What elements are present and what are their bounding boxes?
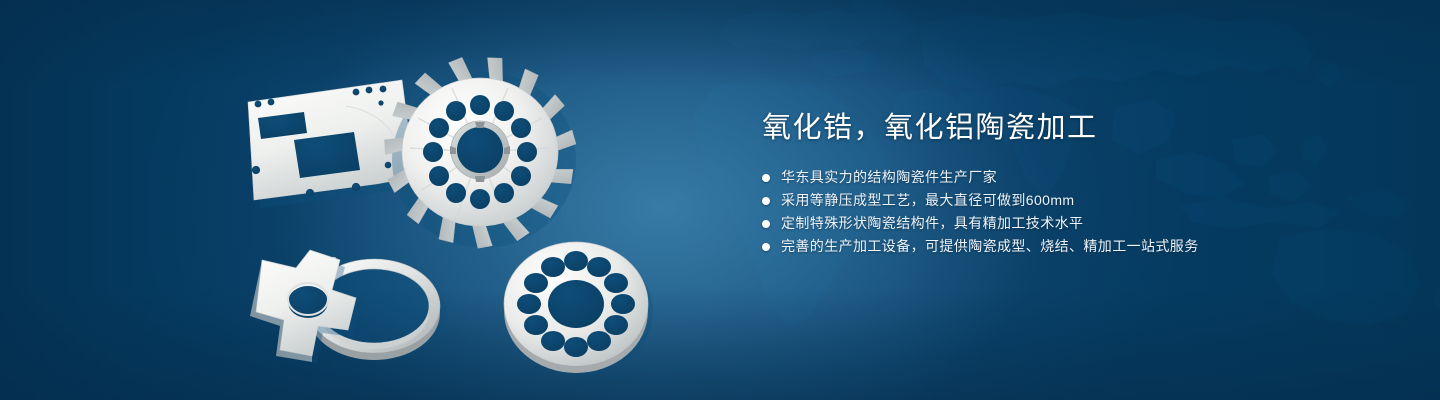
bullet-dot-icon — [762, 197, 770, 205]
feature-text: 完善的生产加工设备，可提供陶瓷成型、烧结、精加工一站式服务 — [781, 235, 1199, 258]
bullet-dot-icon — [762, 220, 770, 228]
product-photo-group — [228, 36, 708, 376]
list-item: 定制特殊形状陶瓷结构件，具有精加工技术水平 — [762, 212, 1382, 235]
promo-banner: 氧化锆，氧化铝陶瓷加工 华东具实力的结构陶瓷件生产厂家 采用等静压成型工艺，最大… — [0, 0, 1440, 400]
feature-text: 定制特殊形状陶瓷结构件，具有精加工技术水平 — [781, 212, 1083, 235]
ceramic-perforated-disc-photo — [504, 242, 653, 375]
banner-copy: 氧化锆，氧化铝陶瓷加工 华东具实力的结构陶瓷件生产厂家 采用等静压成型工艺，最大… — [762, 108, 1382, 258]
list-item: 华东具实力的结构陶瓷件生产厂家 — [762, 166, 1382, 189]
page-title: 氧化锆，氧化铝陶瓷加工 — [762, 108, 1382, 148]
feature-text: 采用等静压成型工艺，最大直径可做到600mm — [781, 189, 1074, 212]
ceramic-impeller-photo — [382, 54, 577, 250]
bullet-dot-icon — [762, 243, 770, 251]
feature-text: 华东具实力的结构陶瓷件生产厂家 — [781, 166, 997, 189]
feature-list: 华东具实力的结构陶瓷件生产厂家 采用等静压成型工艺，最大直径可做到600mm 定… — [762, 166, 1382, 258]
bullet-dot-icon — [762, 174, 770, 182]
list-item: 采用等静压成型工艺，最大直径可做到600mm — [762, 189, 1382, 212]
list-item: 完善的生产加工设备，可提供陶瓷成型、烧结、精加工一站式服务 — [762, 235, 1382, 258]
